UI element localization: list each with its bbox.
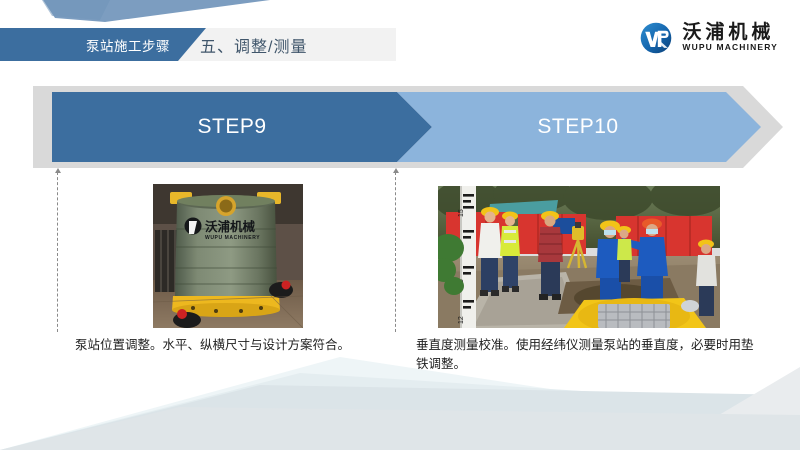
pump-station-tank-photo: 沃浦机械 WUPU MACHINERY <box>153 184 303 328</box>
step-9-label: STEP9 <box>197 115 266 139</box>
page-title: 五、调整/测量 <box>200 28 307 61</box>
step-9[interactable]: STEP9 <box>52 86 412 168</box>
dashed-connector-step10 <box>395 172 396 332</box>
svg-text:WUPU MACHINERY: WUPU MACHINERY <box>205 235 260 241</box>
header-section-label: 泵站施工步骤 <box>0 28 178 61</box>
step-chevron-band: STEP9 STEP10 <box>33 86 783 168</box>
svg-text:12: 12 <box>458 316 465 324</box>
verticality-survey-photo: 15 14 13 12 <box>438 186 720 328</box>
logo-text-block: 沃浦机械 WUPU MACHINERY <box>682 23 778 54</box>
bottom-decor-shapes <box>0 355 800 450</box>
logo-name-cn: 沃浦机械 <box>682 23 778 43</box>
dashed-connector-step9 <box>57 172 58 332</box>
company-logo: 沃浦机械 WUPU MACHINERY <box>638 18 778 58</box>
svg-text:15: 15 <box>458 209 465 217</box>
top-left-decor-shape <box>0 0 330 30</box>
header-bar: 泵站施工步骤 五、调整/测量 <box>0 28 396 61</box>
logo-name-en: WUPU MACHINERY <box>682 42 778 53</box>
slide-canvas: 泵站施工步骤 五、调整/测量 沃浦机械 WUPU MACHINERY <box>0 0 800 450</box>
step-10[interactable]: STEP10 <box>413 86 743 168</box>
caption-step9: 泵站位置调整。水平、纵横尺寸与设计方案符合。 <box>75 336 405 355</box>
svg-text:沃浦机械: 沃浦机械 <box>205 219 256 234</box>
step-10-label: STEP10 <box>537 115 618 139</box>
wupu-circle-logo-icon <box>638 20 674 56</box>
